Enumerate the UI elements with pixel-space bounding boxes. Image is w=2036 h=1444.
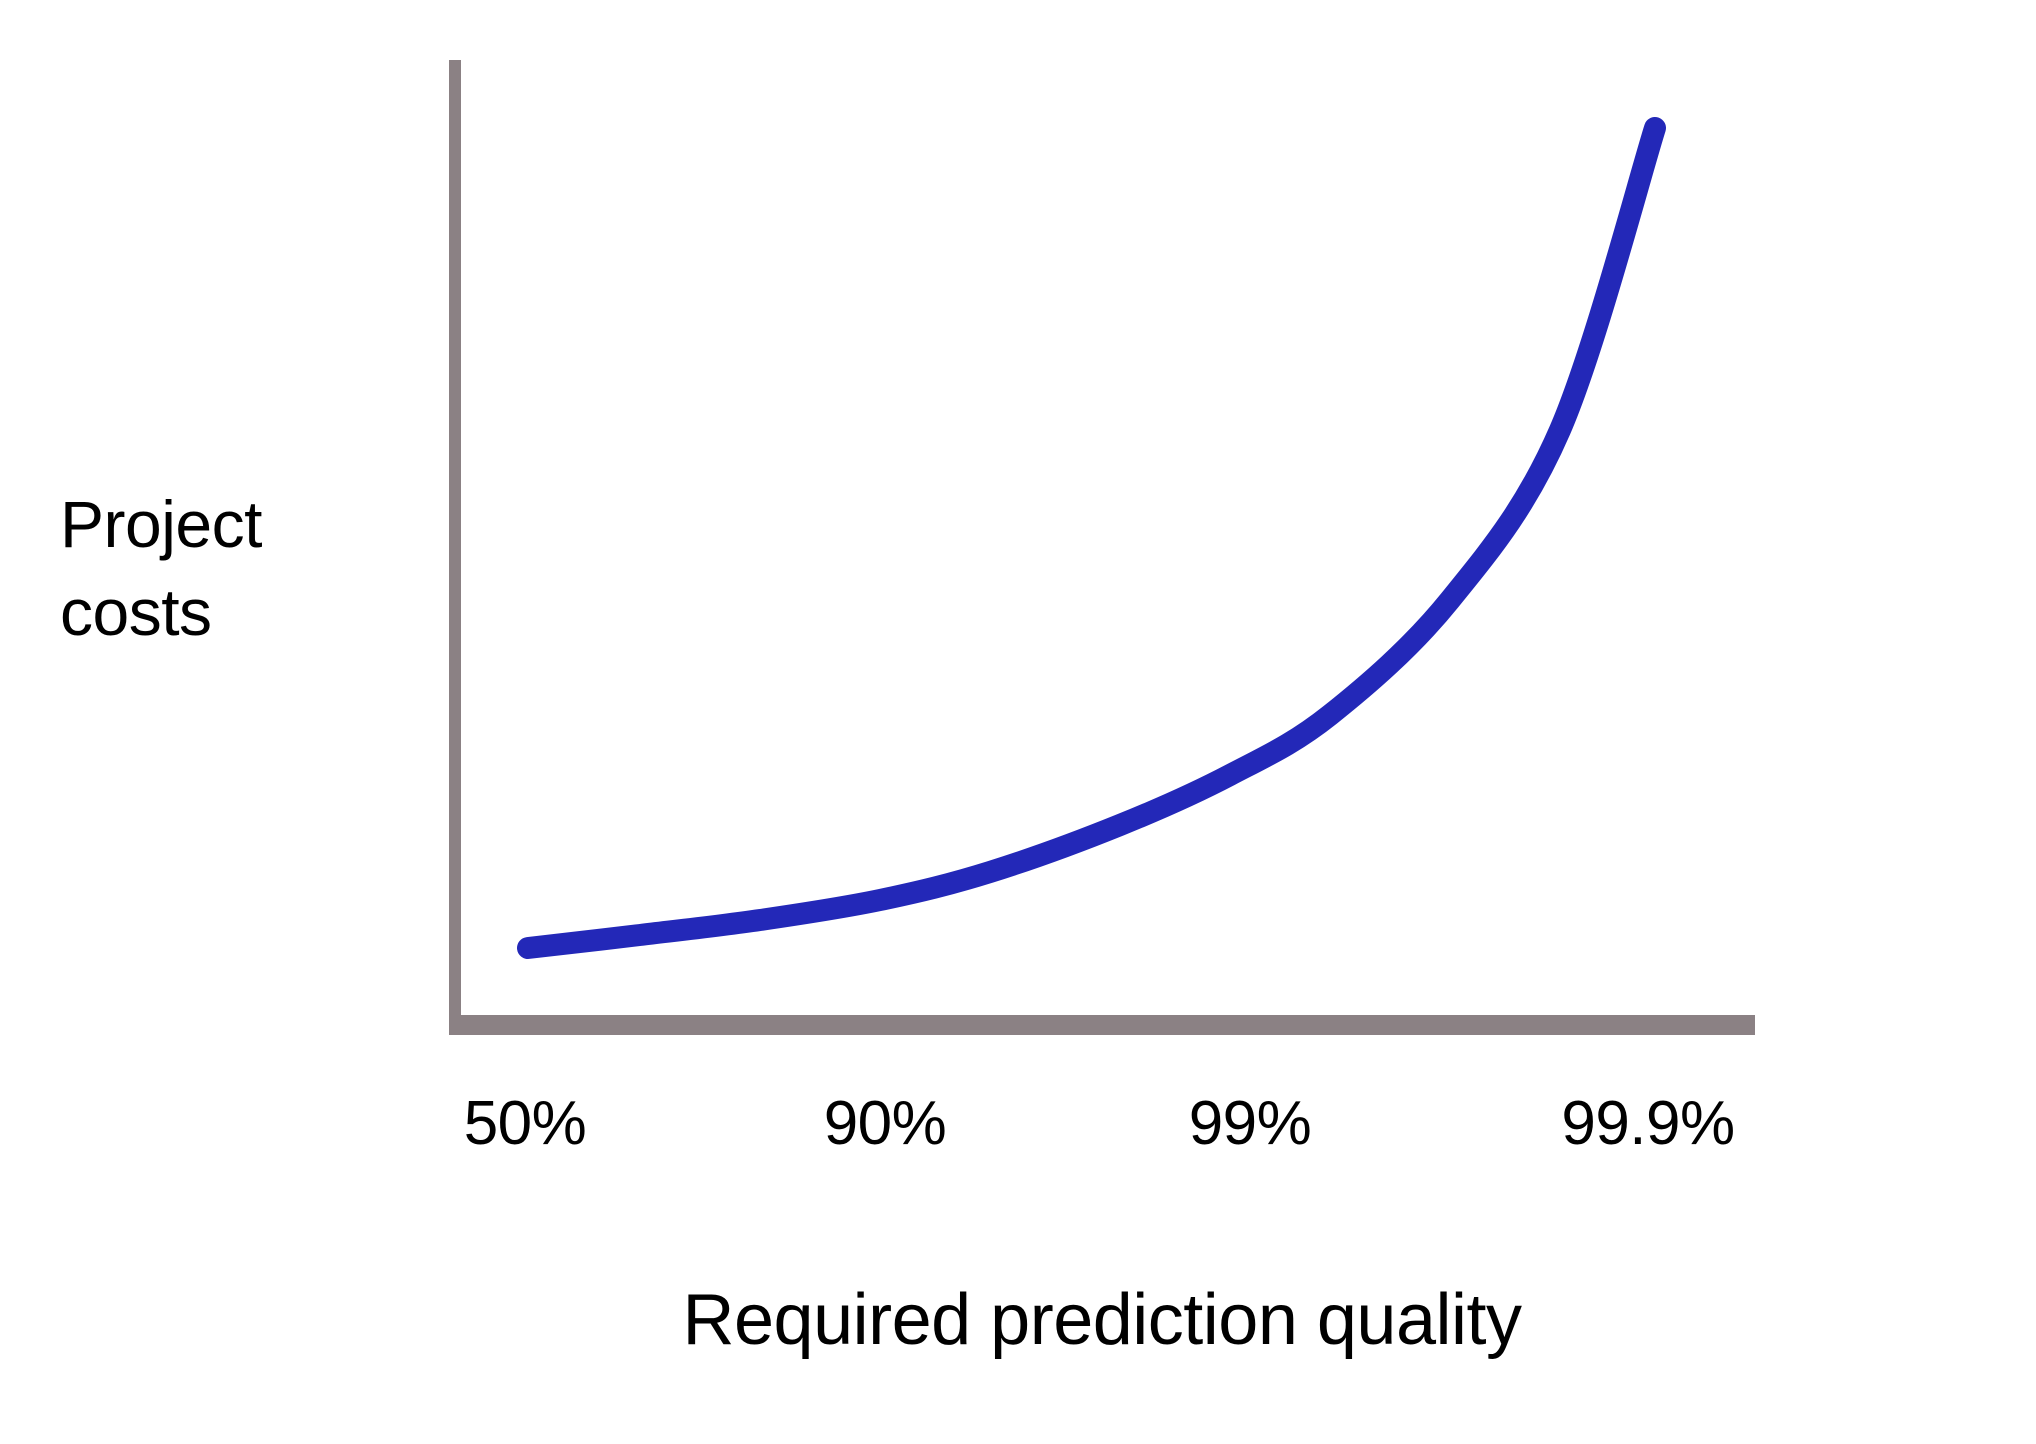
x-axis-title: Required prediction quality <box>449 1280 1755 1360</box>
x-axis-tick-label-2: 90% <box>824 1088 947 1160</box>
x-axis-tick-label-4: 99.9% <box>1561 1088 1734 1160</box>
cost-curve-line <box>528 128 1655 948</box>
y-axis-title: Project costs <box>60 480 400 656</box>
chart-plot-area <box>0 0 2036 1444</box>
x-axis-tick-label-1: 50% <box>464 1088 587 1160</box>
x-axis-tick-label-3: 99% <box>1189 1088 1312 1160</box>
chart-canvas: Project costs 50% 90% 99% 99.9% Required… <box>0 0 2036 1444</box>
